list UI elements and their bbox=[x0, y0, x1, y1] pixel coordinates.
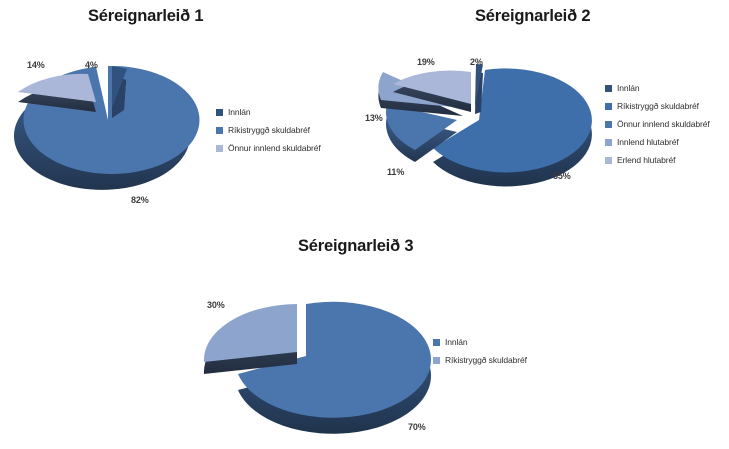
chart-2-label-13: 13% bbox=[365, 113, 383, 123]
legend-swatch-icon bbox=[433, 339, 440, 346]
legend-swatch-icon bbox=[605, 103, 612, 110]
legend-item[interactable]: Ríkistryggð skuldabréf bbox=[605, 101, 710, 111]
legend-item[interactable]: Innlán bbox=[605, 83, 710, 93]
legend-swatch-icon bbox=[605, 157, 612, 164]
chart-3-title: Séreignarleið 3 bbox=[298, 237, 413, 256]
chart-3-pie bbox=[192, 292, 422, 442]
legend-item[interactable]: Innlán bbox=[433, 337, 527, 347]
chart-3-label-30: 30% bbox=[207, 300, 225, 310]
legend-swatch-icon bbox=[216, 109, 223, 116]
legend-item[interactable]: Innlend hlutabréf bbox=[605, 137, 710, 147]
slice-rikistryggd-skuldabref bbox=[204, 304, 297, 374]
legend-item-label: Ríkistryggð skuldabréf bbox=[617, 101, 699, 111]
legend-item-label: Innlán bbox=[228, 107, 251, 117]
chart-2-title: Séreignarleið 2 bbox=[475, 7, 590, 26]
legend-swatch-icon bbox=[433, 357, 440, 364]
legend-item[interactable]: Ríkistryggð skuldabréf bbox=[216, 125, 321, 135]
chart-1-title: Séreignarleið 1 bbox=[88, 7, 203, 26]
chart-1-label-14: 14% bbox=[27, 60, 45, 70]
legend-item-label: Ríkistryggð skuldabréf bbox=[228, 125, 310, 135]
legend-swatch-icon bbox=[605, 139, 612, 146]
legend-item-label: Önnur innlend skuldabréf bbox=[617, 119, 710, 129]
legend-item-label: Innlán bbox=[445, 337, 468, 347]
legend-item-label: Önnur innlend skuldabréf bbox=[228, 143, 321, 153]
chart-seriegnarleid-1: Séreignarleið 1 bbox=[0, 0, 365, 225]
legend-item-label: Erlend hlutabréf bbox=[617, 155, 675, 165]
chart-1-pie bbox=[8, 58, 218, 198]
chart-2-label-2: 2% bbox=[470, 57, 483, 67]
chart-seriegnarleid-2: Séreignarleið 2 bbox=[365, 0, 729, 225]
legend-swatch-icon bbox=[605, 85, 612, 92]
legend-item[interactable]: Ríkistryggð skuldabréf bbox=[433, 355, 527, 365]
chart-3-label-70: 70% bbox=[408, 422, 426, 432]
chart-1-label-82: 82% bbox=[131, 195, 149, 205]
legend-swatch-icon bbox=[605, 121, 612, 128]
legend-item[interactable]: Önnur innlend skuldabréf bbox=[605, 119, 710, 129]
chart-2-label-55: 55% bbox=[553, 171, 571, 181]
chart-1-label-4: 4% bbox=[85, 60, 98, 70]
chart-seriegnarleid-3: Séreignarleið 3 bbox=[180, 224, 580, 449]
legend-item[interactable]: Erlend hlutabréf bbox=[605, 155, 710, 165]
chart-3-legend: Innlán Ríkistryggð skuldabréf bbox=[433, 337, 527, 373]
legend-swatch-icon bbox=[216, 127, 223, 134]
chart-2-label-11: 11% bbox=[387, 167, 404, 177]
chart-1-legend: Innlán Ríkistryggð skuldabréf Önnur innl… bbox=[216, 107, 321, 161]
legend-item[interactable]: Önnur innlend skuldabréf bbox=[216, 143, 321, 153]
legend-item-label: Innlend hlutabréf bbox=[617, 137, 679, 147]
chart-2-legend: Innlán Ríkistryggð skuldabréf Önnur innl… bbox=[605, 83, 710, 173]
legend-item[interactable]: Innlán bbox=[216, 107, 321, 117]
chart-2-label-19: 19% bbox=[417, 57, 435, 67]
legend-item-label: Innlán bbox=[617, 83, 640, 93]
legend-item-label: Ríkistryggð skuldabréf bbox=[445, 355, 527, 365]
legend-swatch-icon bbox=[216, 145, 223, 152]
